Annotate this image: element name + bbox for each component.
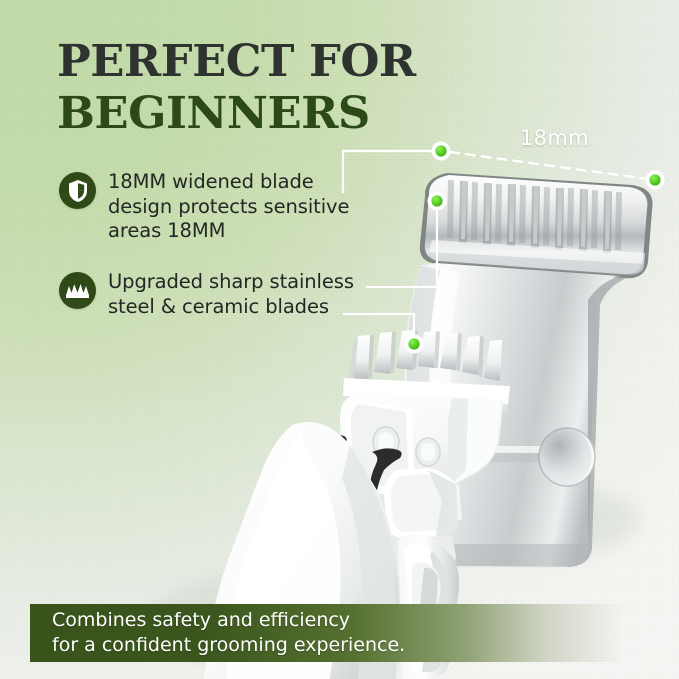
headline-line-2: BEGINNERS	[57, 88, 485, 140]
headline: PERFECT FOR BEGINNERS	[57, 36, 477, 140]
caption-banner: Combines safety and efficiency for a con…	[30, 604, 650, 662]
caption-line-2: for a confident grooming experience.	[52, 633, 650, 658]
blade-teeth-icon	[59, 272, 96, 309]
feature-text-1: 18MM widened blade design protects sensi…	[108, 170, 369, 244]
feature-item-2: Upgraded sharp stainless steel & ceramic…	[59, 270, 369, 319]
feature-text-2: Upgraded sharp stainless steel & ceramic…	[108, 270, 369, 319]
shield-icon	[59, 172, 96, 209]
headline-line-1: PERFECT FOR	[57, 36, 485, 88]
product-feature-graphic: PERFECT FOR BEGINNERS 18mm	[0, 0, 679, 679]
caption-line-1: Combines safety and efficiency	[52, 608, 650, 633]
dimension-label: 18mm	[520, 126, 589, 150]
feature-item-1: 18MM widened blade design protects sensi…	[59, 170, 369, 244]
